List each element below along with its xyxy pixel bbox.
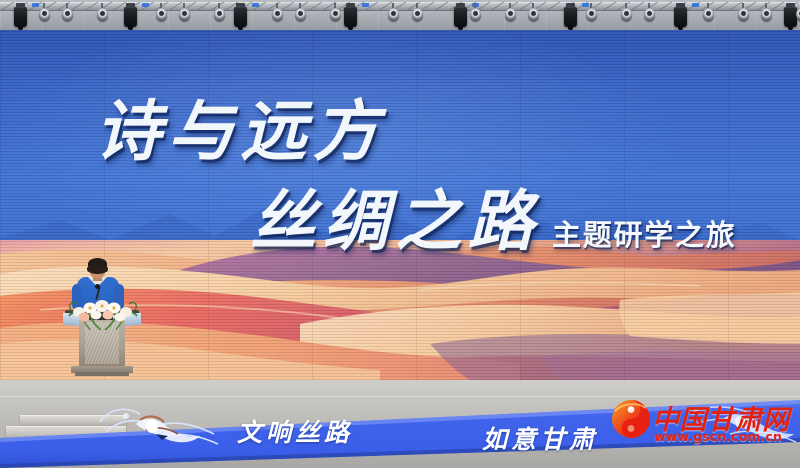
stage-event-photo: 诗与远方 丝绸之路 主题研学之旅 — [0, 0, 800, 468]
taiji-yinyang-icon — [610, 398, 652, 440]
par-light — [621, 8, 632, 21]
moving-head-light — [14, 7, 27, 27]
par-light — [505, 8, 516, 21]
par-light — [528, 8, 539, 21]
truss-blue-tag — [142, 3, 149, 7]
moving-head-light — [454, 7, 467, 27]
lighting-truss — [0, 0, 800, 30]
moving-head-light — [344, 7, 357, 27]
moving-head-light — [564, 7, 577, 27]
par-light — [412, 8, 423, 21]
par-light — [586, 8, 597, 21]
podium-foot — [75, 372, 129, 376]
par-light — [272, 8, 283, 21]
par-light — [39, 8, 50, 21]
par-light — [470, 8, 481, 21]
truss-blue-tag — [582, 3, 589, 7]
watermark-url: www.gscn.com.cn — [654, 429, 782, 444]
par-light — [761, 8, 772, 21]
watermark-logo: 中国甘肃网 www.gscn.com.cn — [608, 396, 800, 452]
truss-blue-tag — [252, 3, 259, 7]
presenter-hair-side — [87, 265, 108, 274]
truss-blue-tag — [692, 3, 699, 7]
par-light — [295, 8, 306, 21]
par-light — [738, 8, 749, 21]
moving-head-light — [124, 7, 137, 27]
moving-head-light — [234, 7, 247, 27]
moving-head-light — [674, 7, 687, 27]
presenter-at-podium — [55, 258, 147, 383]
par-light — [214, 8, 225, 21]
microphone-icon — [95, 284, 100, 289]
par-light — [97, 8, 108, 21]
par-light — [796, 8, 800, 21]
par-light — [156, 8, 167, 21]
truss-blue-tag — [362, 3, 369, 7]
par-light — [703, 8, 714, 21]
par-light — [179, 8, 190, 21]
truss-blue-tag — [32, 3, 39, 7]
flying-apsara-decoration-left — [96, 402, 226, 450]
par-light — [62, 8, 73, 21]
floral-arrangement — [63, 296, 143, 330]
moving-head-light — [784, 7, 797, 27]
par-light — [330, 8, 341, 21]
